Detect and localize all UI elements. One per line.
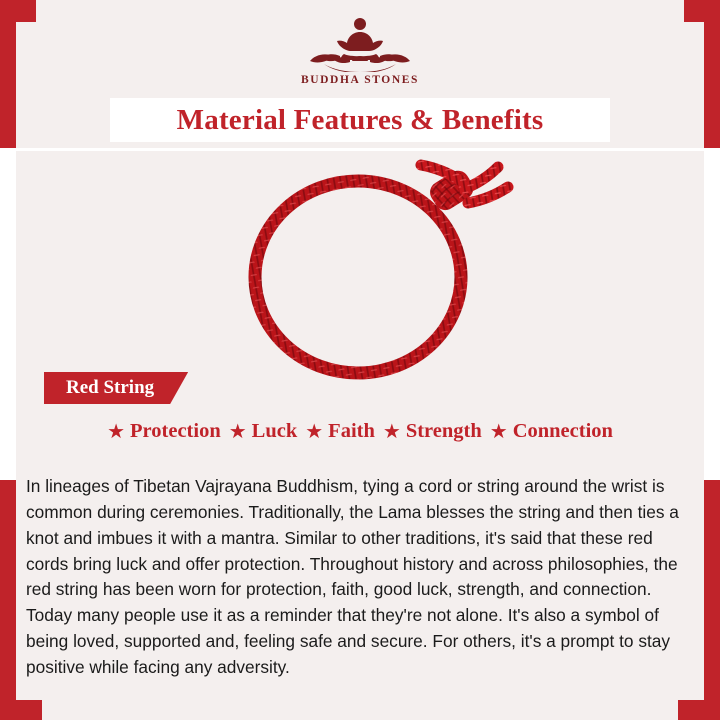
benefit-label: Luck [252,420,298,443]
status-badge: Red String [44,372,188,404]
star-icon: ★ [107,422,125,442]
corner-accent-top-right [684,0,720,22]
lotus-meditation-icon [300,12,420,72]
benefits-list: ★ Protection ★ Luck ★ Faith ★ Strength ★… [16,420,704,443]
title-banner: Material Features & Benefits [110,98,610,142]
brand-name: BUDDHA STONES [0,74,720,86]
benefit-item-faith: ★ Faith [305,420,375,443]
corner-accent-bottom-right [678,700,720,720]
star-icon: ★ [305,422,323,442]
page-title: Material Features & Benefits [177,104,544,137]
frame-bar-right-middle [704,150,720,480]
benefit-label: Faith [328,420,375,443]
red-braided-string-bracelet-icon [206,151,536,380]
benefit-item-luck: ★ Luck [229,420,298,443]
benefit-item-protection: ★ Protection [107,420,221,443]
corner-accent-top-left [0,0,36,22]
infographic-page: BUDDHA STONES Material Features & Benefi… [0,0,720,720]
benefit-label: Strength [406,420,482,443]
frame-bar-left-middle [0,150,16,480]
product-image-area [16,151,704,380]
frame-bar-right-bottom [704,480,720,720]
benefit-item-strength: ★ Strength [383,420,482,443]
brand-logo: BUDDHA STONES [0,12,720,86]
label-text: Red String [66,377,154,399]
benefit-item-connection: ★ Connection [490,420,613,443]
benefit-label: Connection [513,420,613,443]
star-icon: ★ [383,422,401,442]
frame-bar-left-bottom [0,480,16,720]
benefit-label: Protection [130,420,221,443]
star-icon: ★ [490,422,508,442]
star-icon: ★ [229,422,247,442]
corner-accent-bottom-left [0,700,42,720]
description-paragraph: In lineages of Tibetan Vajrayana Buddhis… [26,474,694,680]
